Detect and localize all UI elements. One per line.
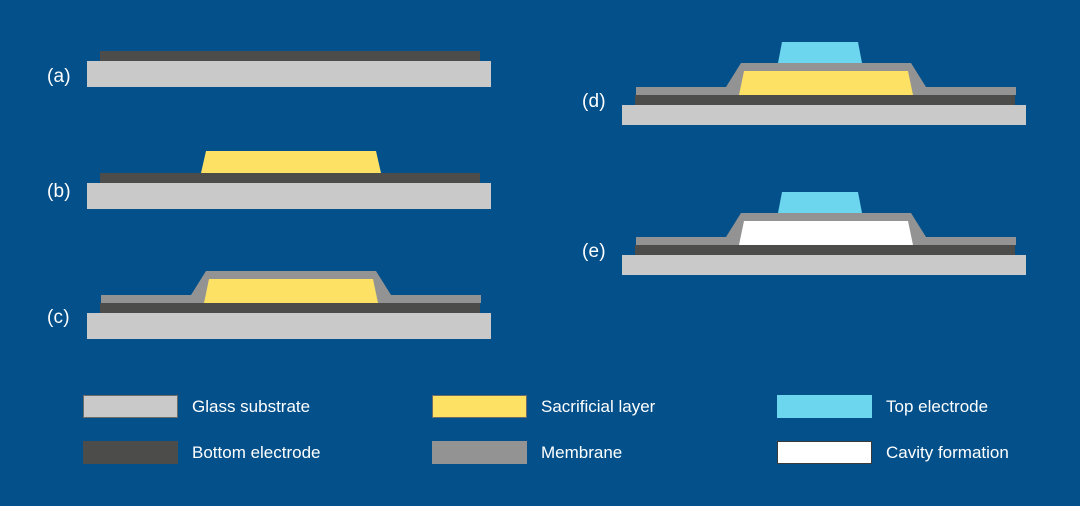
glass-substrate-layer (87, 61, 491, 87)
panel-d: (d) (575, 30, 1035, 125)
panel-d-cross-section (575, 30, 1035, 125)
panel-c-cross-section (40, 260, 500, 340)
legend-label-bottom-electrode: Bottom electrode (192, 444, 321, 461)
panel-c-label: (c) (47, 308, 70, 327)
legend-swatch-sacrificial-layer (432, 395, 527, 418)
legend-swatch-glass-substrate (83, 395, 178, 418)
bottom-electrode-layer (635, 95, 1015, 105)
bottom-electrode-layer (100, 173, 480, 183)
legend: Glass substrate Bottom electrode Sacrifi… (0, 380, 1080, 480)
panel-b: (b) (40, 140, 500, 210)
panel-a-label: (a) (47, 67, 71, 86)
legend-swatch-cavity-formation (777, 441, 872, 464)
panel-b-cross-section (40, 140, 500, 210)
legend-label-top-electrode: Top electrode (886, 398, 988, 415)
legend-swatch-top-electrode (777, 395, 872, 418)
legend-item-top-electrode: Top electrode (777, 395, 988, 418)
legend-item-sacrificial-layer: Sacrificial layer (432, 395, 655, 418)
process-flow-diagram: (a) (b) (c) (d) (0, 0, 1080, 506)
legend-label-glass-substrate: Glass substrate (192, 398, 310, 415)
sacrificial-layer-trapezoid (204, 279, 378, 303)
panel-c: (c) (40, 260, 500, 340)
glass-substrate-layer (622, 255, 1026, 275)
legend-item-cavity-formation: Cavity formation (777, 441, 1009, 464)
legend-label-sacrificial-layer: Sacrificial layer (541, 398, 655, 415)
legend-label-cavity-formation: Cavity formation (886, 444, 1009, 461)
top-electrode-trapezoid (778, 42, 862, 63)
panel-e: (e) (575, 180, 1035, 275)
sacrificial-layer-trapezoid (739, 71, 913, 95)
bottom-electrode-layer (635, 245, 1015, 255)
panel-e-cross-section (575, 180, 1035, 275)
panel-a-cross-section (40, 40, 500, 100)
glass-substrate-layer (87, 313, 491, 339)
glass-substrate-layer (622, 105, 1026, 125)
panel-e-label: (e) (582, 242, 606, 261)
sacrificial-layer-trapezoid (201, 151, 381, 173)
legend-swatch-bottom-electrode (83, 441, 178, 464)
legend-item-bottom-electrode: Bottom electrode (83, 441, 321, 464)
legend-swatch-membrane (432, 441, 527, 464)
top-electrode-trapezoid (778, 192, 862, 213)
legend-label-membrane: Membrane (541, 444, 622, 461)
legend-item-glass-substrate: Glass substrate (83, 395, 310, 418)
legend-item-membrane: Membrane (432, 441, 622, 464)
cavity-formation-void (739, 221, 913, 245)
bottom-electrode-layer (100, 51, 480, 61)
panel-a: (a) (40, 40, 500, 100)
panel-b-label: (b) (47, 182, 71, 201)
panel-d-label: (d) (582, 92, 606, 111)
bottom-electrode-layer (100, 303, 480, 313)
glass-substrate-layer (87, 183, 491, 209)
